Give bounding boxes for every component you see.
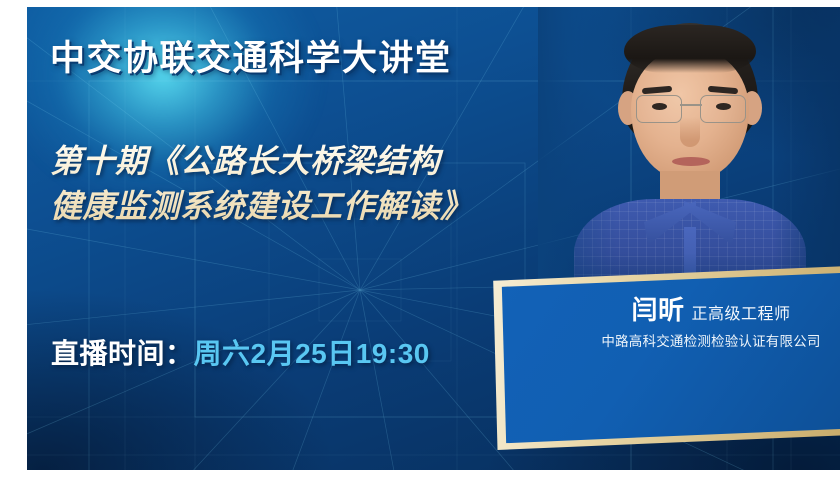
broadcast-time-value: 周六2月25日19:30	[194, 338, 430, 369]
broadcast-time-label: 直播时间：	[51, 338, 194, 369]
speaker-name-row: 闫昕 正高级工程师	[582, 297, 840, 323]
speaker-name: 闫昕	[631, 297, 684, 323]
speaker-organization: 中路高科交通检测检验认证有限公司	[582, 335, 840, 349]
speaker-panel-fill	[486, 265, 840, 450]
speaker-panel-content: 闫昕 正高级工程师 中路高科交通检测检验认证有限公司	[582, 297, 840, 349]
broadcast-time: 直播时间：周六2月25日19:30	[51, 332, 430, 372]
page-title: 中交协联交通科学大讲堂	[50, 30, 452, 81]
session-subtitle-line-1: 第十期《公路长大桥梁结构	[50, 139, 590, 184]
poster-canvas: 中交协联交通科学大讲堂 第十期《公路长大桥梁结构 健康监测系统建设工作解读》 直…	[27, 7, 840, 470]
session-subtitle: 第十期《公路长大桥梁结构 健康监测系统建设工作解读》	[50, 139, 590, 230]
speaker-info-panel: 闫昕 正高级工程师 中路高科交通检测检验认证有限公司	[486, 265, 840, 450]
session-subtitle-line-2: 健康监测系统建设工作解读》	[50, 184, 590, 229]
speaker-title: 正高级工程师	[692, 307, 791, 323]
